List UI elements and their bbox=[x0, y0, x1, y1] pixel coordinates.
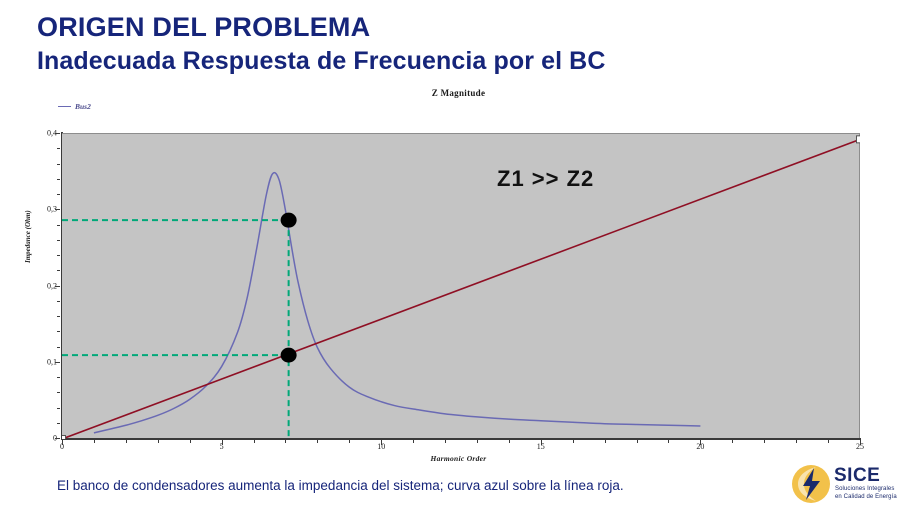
sice-logo: SICE Soluciones Integrales en Calidad de… bbox=[789, 462, 909, 508]
legend-swatch-bus2 bbox=[58, 106, 71, 107]
y-tick-minor bbox=[57, 194, 60, 195]
x-tick-minor bbox=[190, 440, 191, 443]
x-tick-minor bbox=[828, 440, 829, 443]
y-tick-minor bbox=[57, 270, 60, 271]
y-tick-major-1 bbox=[55, 362, 60, 363]
y-tick-major-4 bbox=[55, 133, 60, 134]
y-tick-minor bbox=[57, 392, 60, 393]
page-title-secondary: Inadecuada Respuesta de Frecuencia por e… bbox=[37, 47, 605, 76]
page-title-primary: ORIGEN DEL PROBLEMA bbox=[37, 12, 370, 43]
data-point-z2 bbox=[281, 348, 297, 363]
x-tick-major-0 bbox=[62, 440, 63, 445]
chart-title: Z Magnitude bbox=[0, 88, 917, 98]
series-line-linea-del-sistema bbox=[62, 139, 860, 439]
sice-logo-tagline-line2: en Calidad de Energía bbox=[835, 494, 897, 502]
chart-legend: Bus2 bbox=[58, 102, 91, 111]
x-tick-major-3 bbox=[541, 440, 542, 445]
y-tick-minor bbox=[57, 408, 60, 409]
y-axis-title: Impedance (Ohm) bbox=[24, 210, 32, 263]
plot-svg bbox=[62, 134, 860, 439]
x-tick-major-2 bbox=[381, 440, 382, 445]
y-tick-minor bbox=[57, 377, 60, 378]
slide-caption: El banco de condensadores aumenta la imp… bbox=[57, 478, 624, 493]
y-tick-major-0 bbox=[55, 438, 60, 439]
y-tick-minor bbox=[57, 255, 60, 256]
x-tick-minor bbox=[732, 440, 733, 443]
x-tick-minor bbox=[445, 440, 446, 443]
y-tick-minor bbox=[57, 225, 60, 226]
legend-label-bus2: Bus2 bbox=[75, 102, 91, 111]
x-tick-minor bbox=[349, 440, 350, 443]
sice-logo-mark-icon bbox=[789, 462, 833, 506]
x-tick-minor bbox=[254, 440, 255, 443]
x-tick-major-4 bbox=[700, 440, 701, 445]
y-axis-tick-labels: 00,10,20,30,4 bbox=[0, 88, 57, 463]
series-endpoint-marker-end bbox=[857, 136, 861, 143]
y-tick-major-3 bbox=[55, 209, 60, 210]
x-tick-minor bbox=[573, 440, 574, 443]
x-tick-minor bbox=[94, 440, 95, 443]
chart-container: Z Magnitude Bus2 00,10,20,30,4 Harmonic … bbox=[0, 88, 917, 463]
y-tick-minor bbox=[57, 423, 60, 424]
x-tick-minor bbox=[285, 440, 286, 443]
series-group bbox=[62, 136, 860, 439]
x-tick-minor bbox=[317, 440, 318, 443]
sice-logo-tagline-line1: Soluciones Integrales bbox=[835, 486, 897, 494]
y-tick-minor bbox=[57, 240, 60, 241]
y-tick-minor bbox=[57, 316, 60, 317]
y-tick-major-2 bbox=[55, 286, 60, 287]
x-tick-major-1 bbox=[222, 440, 223, 445]
x-axis-title: Harmonic Order bbox=[0, 454, 917, 463]
y-tick-minor bbox=[57, 179, 60, 180]
series-line-bus2 bbox=[94, 173, 700, 433]
x-tick-minor bbox=[509, 440, 510, 443]
x-tick-minor bbox=[637, 440, 638, 443]
y-tick-minor bbox=[57, 164, 60, 165]
sice-logo-wordmark: SICE bbox=[834, 465, 880, 487]
y-tick-minor bbox=[57, 301, 60, 302]
x-tick-minor bbox=[605, 440, 606, 443]
slide-canvas: ORIGEN DEL PROBLEMA Inadecuada Respuesta… bbox=[0, 0, 917, 515]
y-tick-minor bbox=[57, 347, 60, 348]
x-tick-minor bbox=[126, 440, 127, 443]
y-tick-minor bbox=[57, 148, 60, 149]
guides-group bbox=[62, 220, 289, 439]
x-tick-minor bbox=[158, 440, 159, 443]
annotation-z1-gt-z2: Z1 >> Z2 bbox=[497, 166, 594, 192]
x-tick-major-5 bbox=[860, 440, 861, 445]
plot-area bbox=[62, 133, 860, 438]
x-tick-minor bbox=[796, 440, 797, 443]
y-tick-minor bbox=[57, 331, 60, 332]
series-endpoint-marker-start bbox=[62, 436, 66, 440]
x-tick-minor bbox=[668, 440, 669, 443]
x-tick-minor bbox=[764, 440, 765, 443]
x-tick-minor bbox=[413, 440, 414, 443]
x-tick-minor bbox=[477, 440, 478, 443]
data-point-z1 bbox=[281, 213, 297, 228]
sice-logo-tagline: Soluciones Integrales en Calidad de Ener… bbox=[835, 486, 897, 501]
